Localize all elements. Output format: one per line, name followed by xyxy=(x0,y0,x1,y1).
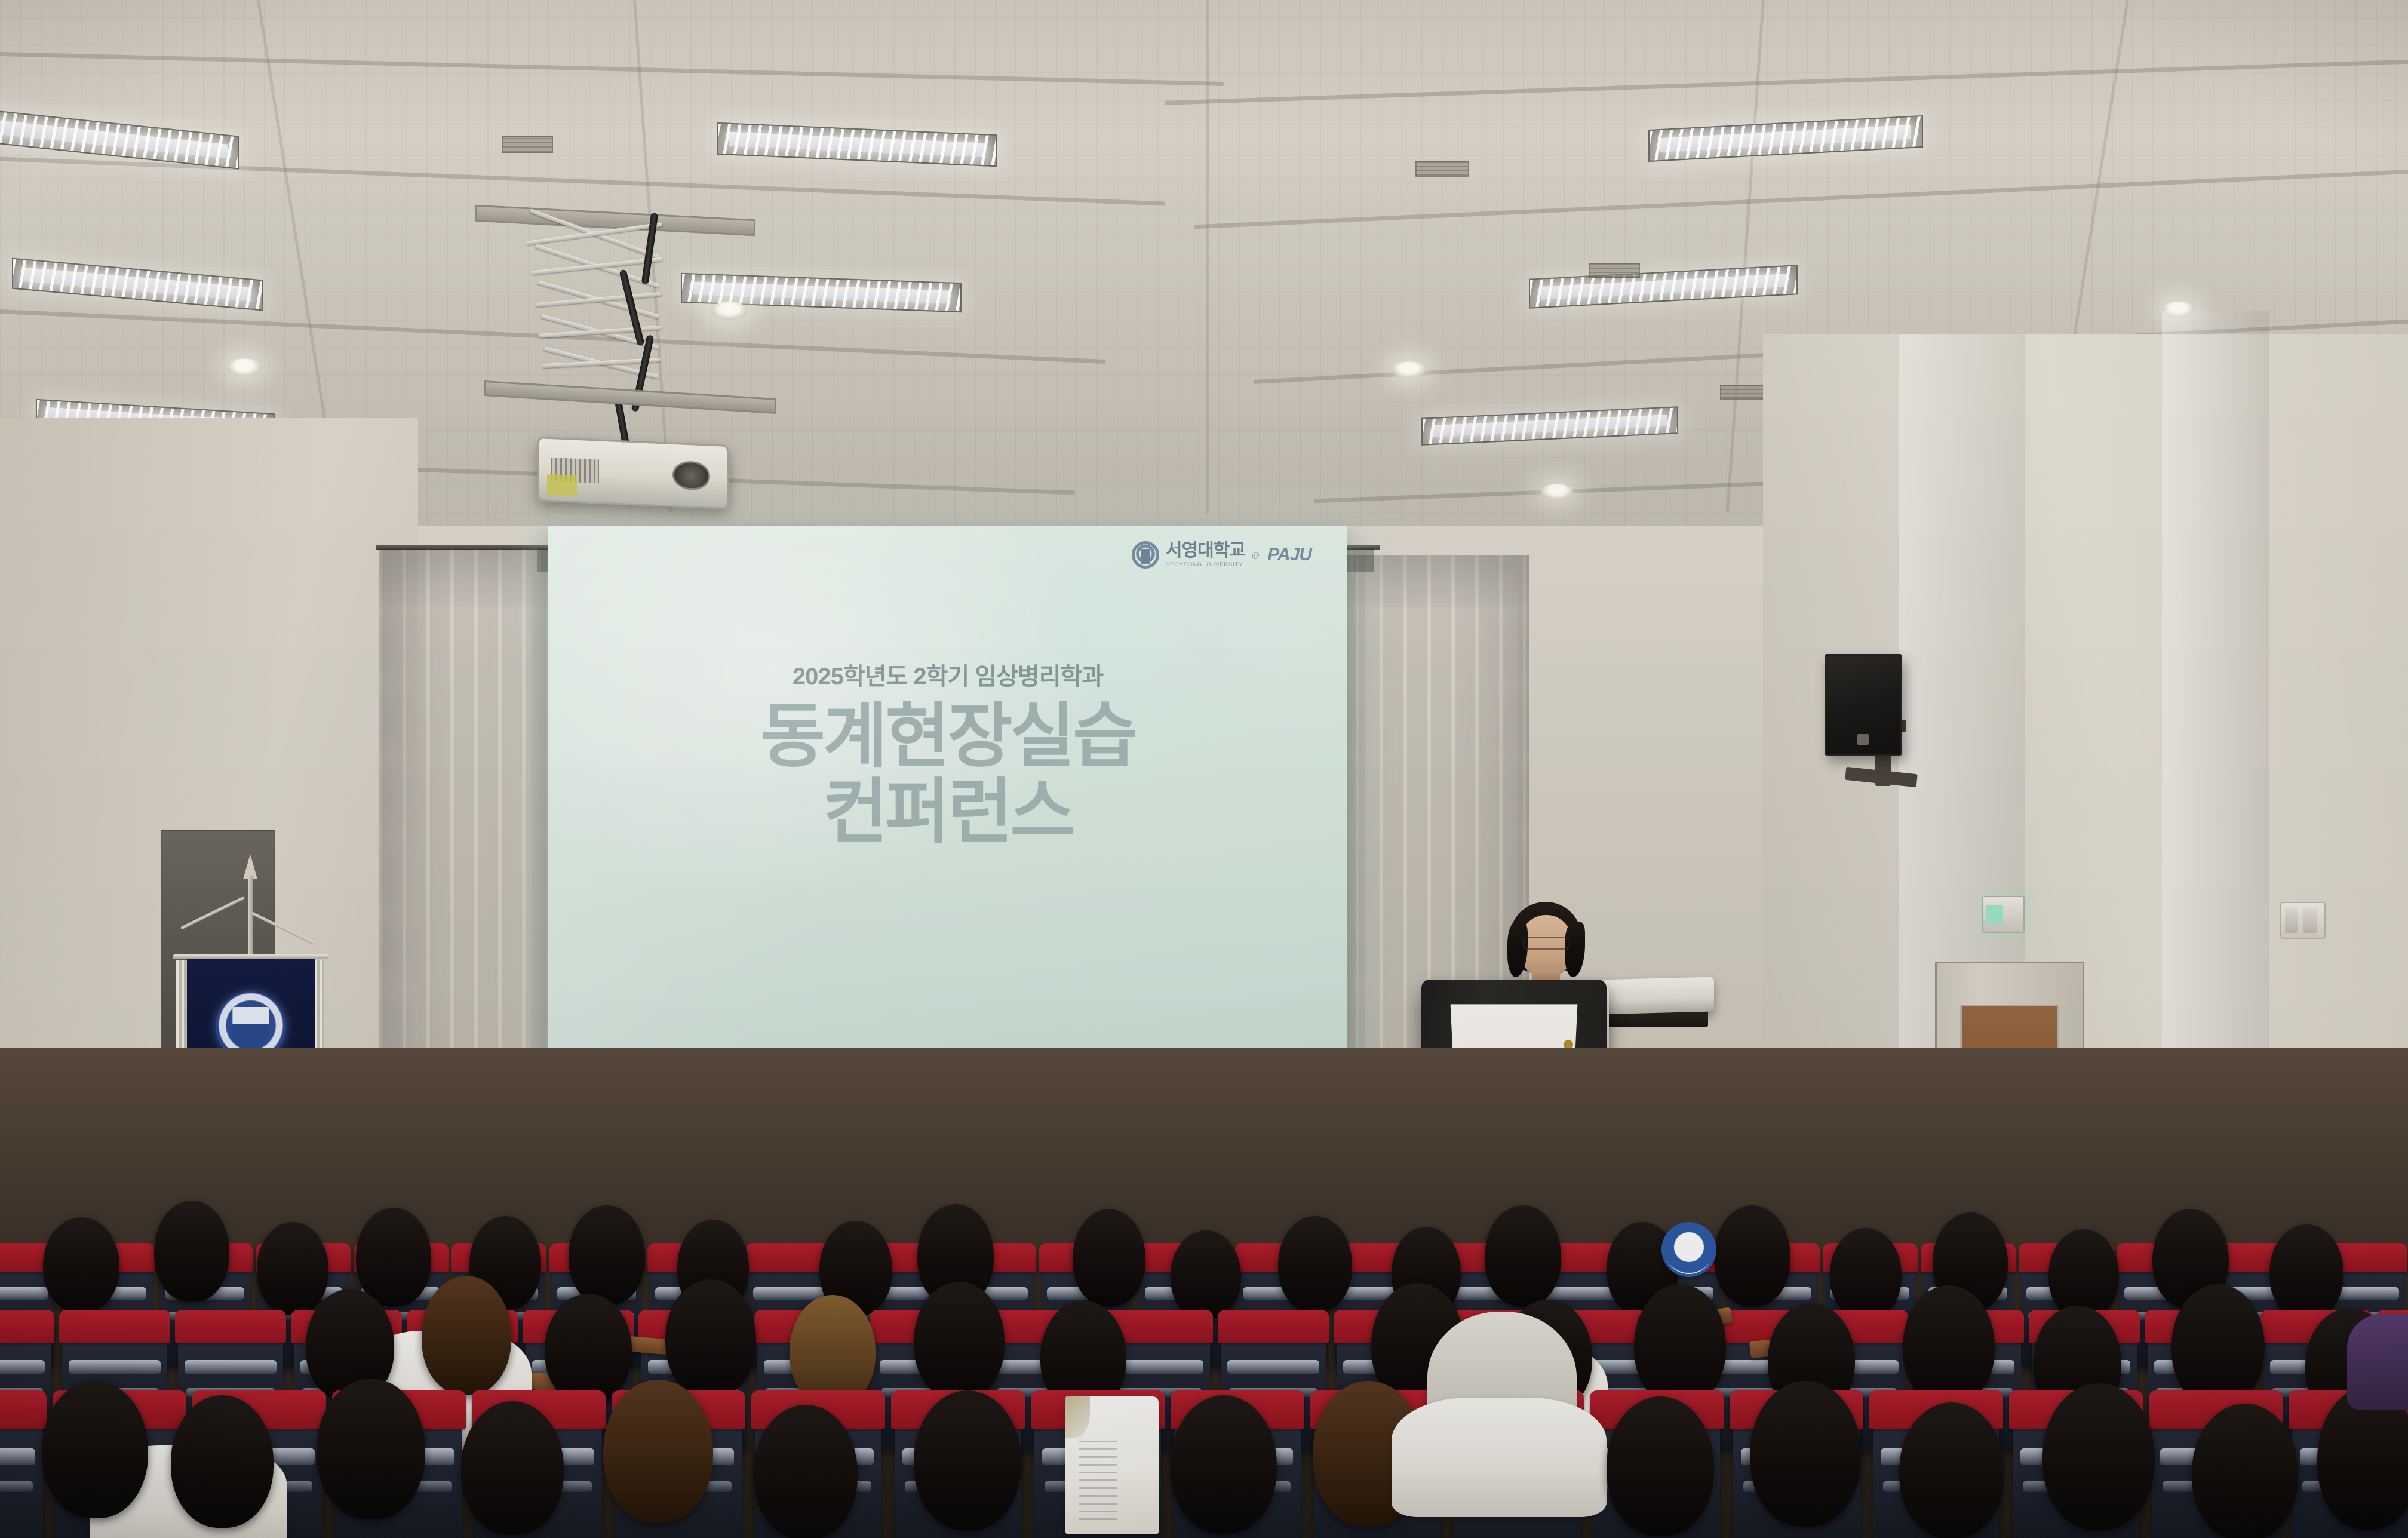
scissor-arm xyxy=(535,292,662,307)
audience-head xyxy=(665,1279,756,1398)
audience-head xyxy=(461,1401,564,1535)
audience-head xyxy=(545,1294,632,1405)
seat-highlight xyxy=(185,1360,277,1374)
seat-highlight xyxy=(0,1448,35,1465)
audience-head xyxy=(42,1381,148,1518)
pennant-pole xyxy=(248,876,253,965)
audience-head xyxy=(1171,1395,1277,1534)
audience-head xyxy=(1485,1205,1561,1307)
switch-toggle[interactable] xyxy=(2303,908,2317,933)
presenter-glasses-icon xyxy=(1523,937,1569,950)
slide-eyebrow-text: 2025학년도 2학기 임상병리학과 xyxy=(548,657,1347,692)
ceiling-downlight xyxy=(1392,361,1426,378)
audience-head xyxy=(914,1390,1021,1530)
seat-headrest xyxy=(0,1310,54,1343)
slide-content: 2025학년도 2학기 임상병리학과 동계현장실습 컨퍼런스 일시: 3월 5일… xyxy=(548,526,1347,1138)
slide-title-line-2: 컨퍼런스 xyxy=(548,775,1347,851)
pennant-crossbar xyxy=(173,954,329,959)
projector-label-tag xyxy=(547,474,577,496)
exit-lamp-icon xyxy=(1986,905,2003,924)
audience-head xyxy=(2269,1224,2343,1320)
paper-text-lines xyxy=(1079,1441,1118,1520)
projector-lens-icon xyxy=(672,460,710,491)
auditorium-photo: 서영대학교 SEOYEONG UNIVERSITY @ PAJU 2025학년도… xyxy=(0,0,2408,1538)
audience-head xyxy=(754,1405,858,1538)
hvac-vent xyxy=(502,136,553,153)
audience-head xyxy=(317,1379,425,1519)
audience-head xyxy=(43,1217,119,1313)
auditorium-seat[interactable] xyxy=(0,1404,43,1538)
seat-headrest xyxy=(1218,1310,1329,1343)
pennant-cord-left xyxy=(180,897,245,930)
seat-highlight xyxy=(0,1360,45,1374)
audience-head xyxy=(1903,1285,1995,1406)
audience-head xyxy=(603,1380,713,1523)
seat-headrest xyxy=(59,1310,171,1343)
pennant-cord-right xyxy=(251,911,315,945)
audience-head xyxy=(1278,1216,1352,1313)
audience-head xyxy=(1073,1209,1145,1307)
seat-highlight xyxy=(0,1287,48,1300)
audience-head xyxy=(569,1205,645,1306)
seal-shield-icon xyxy=(232,1007,269,1048)
seat-headrest xyxy=(0,1390,47,1429)
wall-speaker xyxy=(1825,654,1902,756)
paper-fold-curl xyxy=(1065,1396,1090,1438)
audience-head xyxy=(1830,1228,1902,1320)
slide-title: 동계현장실습 컨퍼런스 xyxy=(548,699,1347,851)
audience-head xyxy=(1714,1205,1790,1307)
stage-curtain-left xyxy=(379,549,576,1135)
audience-head xyxy=(1634,1284,1726,1406)
seat-highlight xyxy=(0,1481,33,1492)
light-switch-panel[interactable] xyxy=(2280,902,2326,939)
audience-head xyxy=(2042,1383,2155,1530)
audience-shoulders xyxy=(2347,1314,2408,1410)
scissor-lift-mechanism xyxy=(526,227,723,400)
audience-head xyxy=(257,1222,328,1315)
hvac-vent xyxy=(1720,385,1768,400)
ceiling-downlight xyxy=(227,358,262,376)
audience-head xyxy=(171,1395,274,1528)
audience-head xyxy=(2171,1284,2265,1407)
audience-head xyxy=(914,1282,1005,1400)
ceiling-gridline xyxy=(1206,0,1209,514)
hvac-vent xyxy=(1415,161,1469,177)
seat-headrest xyxy=(175,1310,287,1343)
circular-blue-sign xyxy=(1661,1222,1716,1277)
ceiling-downlight xyxy=(1541,484,1573,499)
audience-head xyxy=(1750,1381,1861,1527)
audience-head xyxy=(2192,1404,2298,1538)
slide-title-line-1: 동계현장실습 xyxy=(548,699,1347,775)
seat-highlight xyxy=(69,1360,161,1374)
program-paper[interactable] xyxy=(1065,1396,1159,1534)
presenter-hair-side-right xyxy=(1565,922,1585,977)
hvac-vent xyxy=(1589,263,1640,278)
ceiling-projector xyxy=(537,437,729,509)
seat-highlight xyxy=(1227,1360,1320,1374)
audience-head xyxy=(1607,1396,1714,1536)
audience-head xyxy=(1171,1230,1241,1320)
audience-head xyxy=(1899,1402,2004,1538)
audience-head xyxy=(154,1201,229,1302)
audience-shoulders xyxy=(1392,1398,1607,1517)
emergency-exit-light xyxy=(1982,896,2025,933)
speaker-port-icon xyxy=(1857,734,1869,745)
switch-toggle[interactable] xyxy=(2285,908,2298,933)
audience-head xyxy=(422,1276,511,1395)
audience-head xyxy=(356,1208,431,1307)
